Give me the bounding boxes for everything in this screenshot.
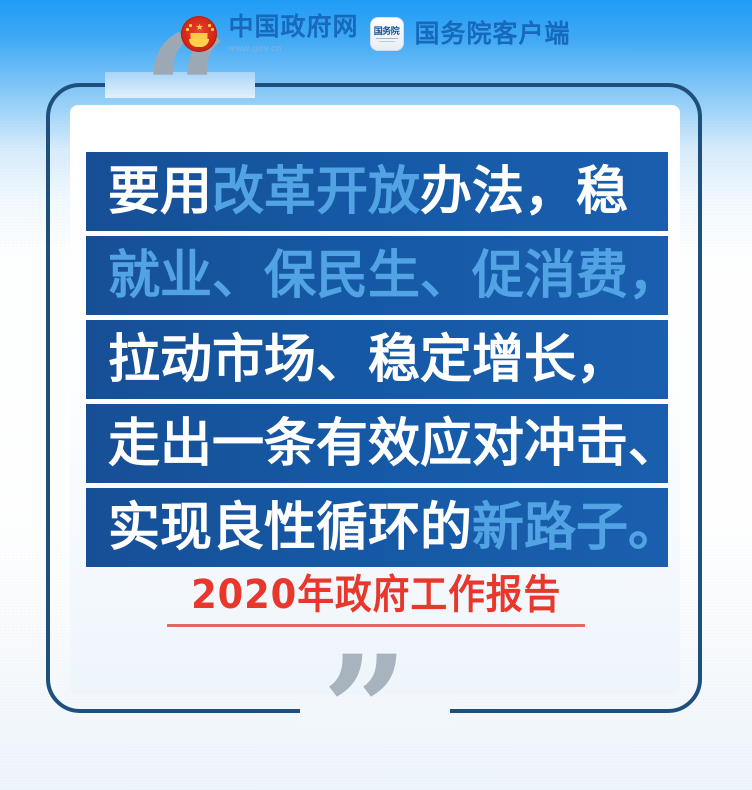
app-icon-label: 国务院 bbox=[374, 26, 400, 36]
gov-site-brand[interactable]: 中国政府网 www.gov.cn bbox=[228, 15, 358, 53]
quote-line: 就业、保民生、促消费， bbox=[86, 236, 668, 315]
emblem-big-star: ★ bbox=[195, 23, 203, 32]
quote-segment: 要用 bbox=[108, 164, 212, 220]
emblem-gear bbox=[189, 39, 209, 47]
quote-segment-highlight: 改革开放 bbox=[212, 164, 420, 220]
poster-canvas: ★ 中国政府网 www.gov.cn 国务院 国务院客户端 “ ” 要用改革开放… bbox=[0, 0, 752, 790]
close-quote-icon: ” bbox=[322, 636, 404, 786]
brand-header: ★ 中国政府网 www.gov.cn 国务院 国务院客户端 bbox=[0, 10, 752, 58]
quote-segment-highlight: 新路子。 bbox=[472, 500, 668, 556]
quote-segment: 拉动市场、稳定增长， bbox=[108, 332, 628, 388]
state-council-app-name[interactable]: 国务院客户端 bbox=[415, 22, 571, 47]
quote-segment: 实现良性循环的 bbox=[108, 500, 472, 556]
quote-line: 实现良性循环的新路子。 bbox=[86, 488, 668, 567]
quote-line: 走出一条有效应对冲击、 bbox=[86, 404, 668, 483]
quote-segment-highlight: 就业、保民生、促消费， bbox=[108, 248, 668, 304]
gov-site-name: 中国政府网 bbox=[228, 15, 358, 40]
app-icon-line-2 bbox=[379, 41, 395, 42]
attribution-underline bbox=[167, 624, 585, 627]
quote-segment: 走出一条有效应对冲击、 bbox=[108, 416, 668, 472]
state-council-app-icon[interactable]: 国务院 bbox=[370, 17, 404, 51]
china-national-emblem-icon: ★ bbox=[181, 16, 217, 52]
quote-line: 要用改革开放办法，稳 bbox=[86, 152, 668, 231]
attribution-text: 2020年政府工作报告 bbox=[191, 572, 561, 618]
gov-site-url: www.gov.cn bbox=[228, 43, 281, 53]
quote-attribution: 2020年政府工作报告 bbox=[0, 572, 752, 627]
quote-line: 拉动市场、稳定增长， bbox=[86, 320, 668, 399]
app-icon-line-1 bbox=[376, 38, 398, 39]
quote-lines: 要用改革开放办法，稳 就业、保民生、促消费， 拉动市场、稳定增长， 走出一条有效… bbox=[86, 152, 668, 572]
quote-segment: 办法，稳 bbox=[420, 164, 628, 220]
